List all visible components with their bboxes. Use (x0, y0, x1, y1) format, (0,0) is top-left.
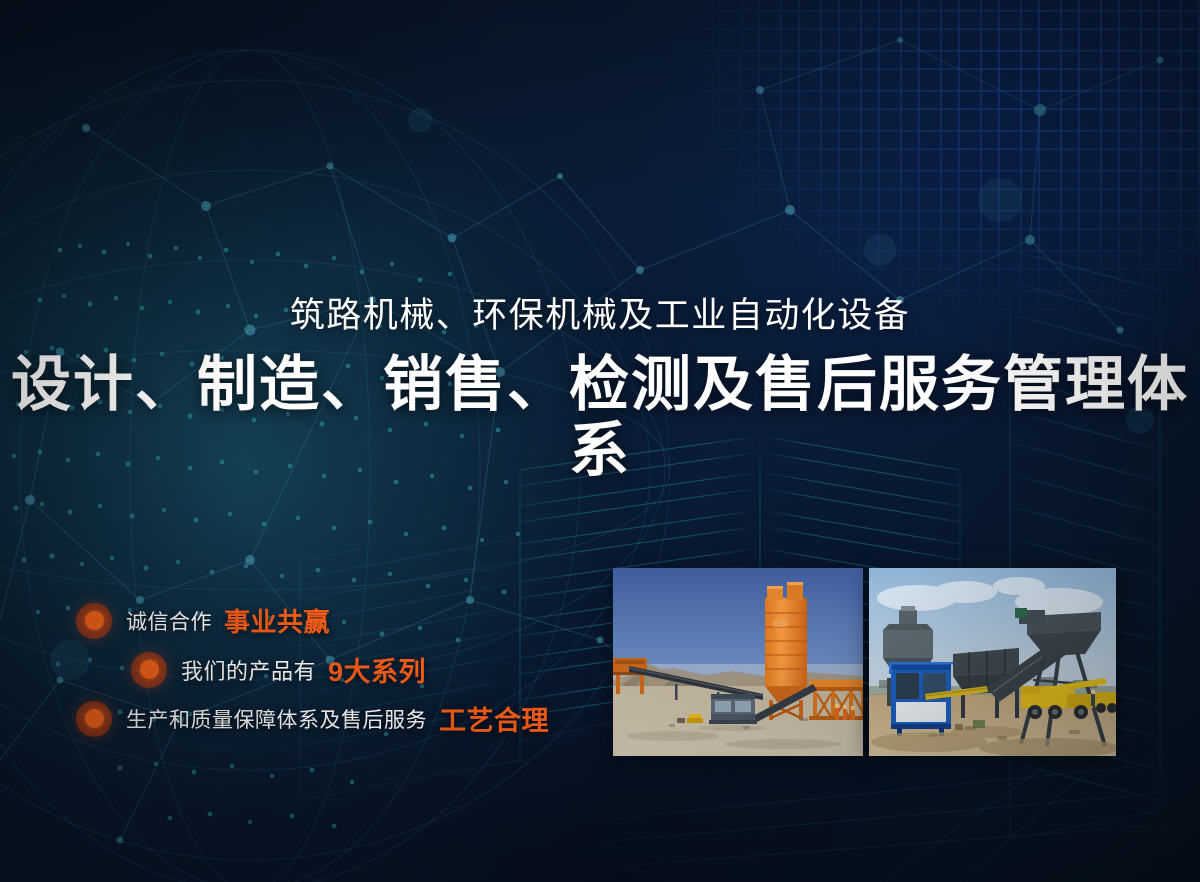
bullet-highlight: 9大系列 (328, 650, 426, 689)
banner-title: 设计、制造、销售、检测及售后服务管理体系 (0, 352, 1200, 484)
bullet-dot-icon (76, 701, 112, 737)
feature-bullet-list: 诚信合作 事业共赢 我们的产品有 9大系列 生产和质量保障体系及售后服务 工艺合… (76, 596, 596, 743)
bullet-label: 生产和质量保障体系及售后服务 (126, 704, 427, 734)
bullet-label: 诚信合作 (126, 606, 212, 636)
headline-block: 筑路机械、环保机械及工业自动化设备 设计、制造、销售、检测及售后服务管理体系 (0, 296, 1200, 484)
promo-banner: 筑路机械、环保机械及工业自动化设备 设计、制造、销售、检测及售后服务管理体系 诚… (0, 0, 1200, 882)
bullet-highlight: 工艺合理 (439, 699, 549, 738)
bullet-dot-icon (76, 603, 112, 639)
list-item: 诚信合作 事业共赢 (76, 596, 596, 645)
list-item: 我们的产品有 9大系列 (76, 645, 596, 694)
banner-subtitle: 筑路机械、环保机械及工业自动化设备 (0, 296, 1200, 336)
concrete-batching-plant-photo (613, 568, 863, 756)
mobile-mixing-plant-photo (869, 568, 1116, 756)
bullet-dot-icon (131, 652, 167, 688)
bullet-label: 我们的产品有 (181, 654, 316, 686)
bullet-highlight: 事业共赢 (224, 602, 330, 639)
list-item: 生产和质量保障体系及售后服务 工艺合理 (76, 694, 596, 743)
